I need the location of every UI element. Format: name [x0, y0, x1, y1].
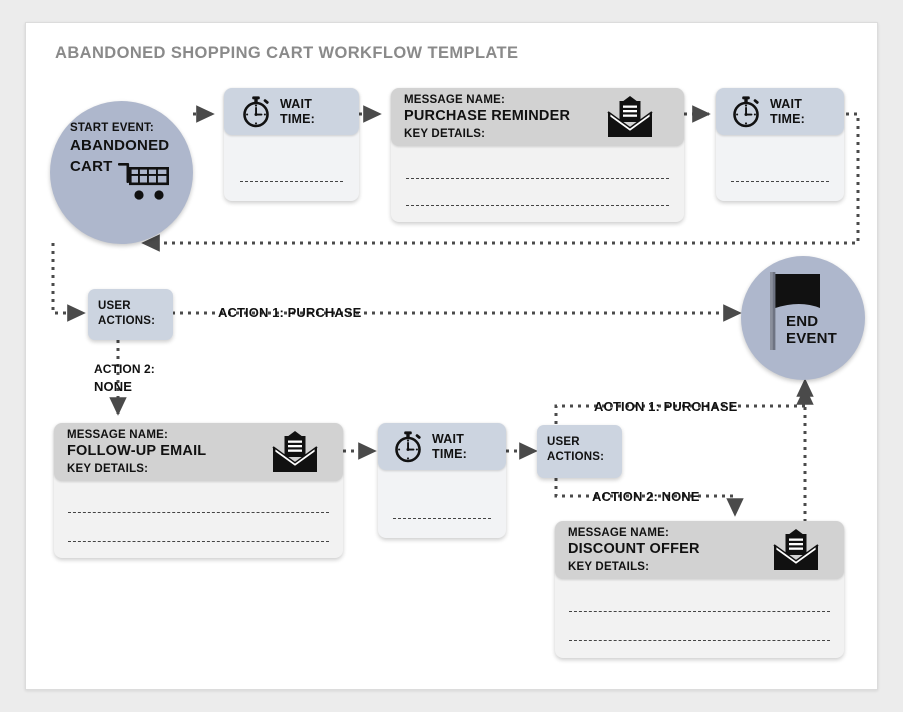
start-event-label-line1: START EVENT:: [70, 121, 154, 135]
open-envelope-icon: [272, 430, 318, 474]
open-envelope-icon: [773, 528, 819, 572]
diagram-canvas: ABANDONED SHOPPING CART WORKFLOW TEMPLAT…: [0, 0, 903, 712]
stopwatch-icon: [390, 429, 426, 465]
message-header-purchase-reminder: MESSAGE NAME: PURCHASE REMINDER KEY DETA…: [391, 88, 684, 146]
message-label-2: MESSAGE NAME:: [67, 429, 168, 441]
edge-label-action2-none-bottom: ACTION 2: NONE: [592, 489, 700, 505]
message-name-3: DISCOUNT OFFER: [568, 541, 700, 557]
end-event-label-line2: EVENT: [786, 330, 837, 348]
message-label-1: MESSAGE NAME:: [404, 94, 505, 106]
message-detail-rule-2b[interactable]: [68, 541, 328, 542]
shopping-cart-icon: [116, 158, 172, 203]
message-detail-rule-1b[interactable]: [406, 205, 670, 206]
message-name-1: PURCHASE REMINDER: [404, 108, 570, 124]
message-details-label-1: KEY DETAILS:: [404, 128, 485, 140]
wait-time-value-rule-3[interactable]: [393, 518, 490, 519]
edge-label-action1-purchase-top: ACTION 1: PURCHASE: [218, 305, 361, 321]
wait-time-box-2[interactable]: WAIT TIME:: [716, 88, 844, 201]
message-detail-rule-3b[interactable]: [569, 640, 829, 641]
user-actions-box-1[interactable]: USER ACTIONS:: [88, 289, 173, 340]
end-event-label-line1: END: [786, 313, 818, 331]
user-actions-box-2[interactable]: USER ACTIONS:: [537, 425, 622, 478]
start-event-label-line2: ABANDONED: [70, 137, 169, 155]
wait-time-box-3[interactable]: WAIT TIME:: [378, 423, 506, 538]
message-name-2: FOLLOW-UP EMAIL: [67, 443, 206, 459]
start-event-label-line3: CART: [70, 158, 112, 176]
message-header-follow-up-email: MESSAGE NAME: FOLLOW-UP EMAIL KEY DETAIL…: [54, 423, 343, 481]
connector-down-to-useractions1: [53, 243, 84, 313]
wait-time-label-1: WAIT TIME:: [280, 97, 315, 127]
message-detail-rule-2a[interactable]: [68, 512, 328, 513]
wait-time-header-3: WAIT TIME:: [378, 423, 506, 470]
edge-label-action2-line1: ACTION 2:: [94, 362, 155, 376]
edge-label-action1-purchase-bottom: ACTION 1: PURCHASE: [594, 399, 737, 415]
message-details-label-2: KEY DETAILS:: [67, 463, 148, 475]
workflow-diagram-page: ABANDONED SHOPPING CART WORKFLOW TEMPLAT…: [0, 0, 903, 712]
wait-time-header-2: WAIT TIME:: [716, 88, 844, 135]
page-title: ABANDONED SHOPPING CART WORKFLOW TEMPLAT…: [55, 44, 518, 63]
wait-time-value-rule-2[interactable]: [731, 181, 828, 182]
message-detail-rule-3a[interactable]: [569, 611, 829, 612]
message-box-discount-offer[interactable]: MESSAGE NAME: DISCOUNT OFFER KEY DETAILS…: [555, 521, 844, 658]
wait-time-value-rule-1[interactable]: [240, 181, 343, 182]
user-actions-label-1: USER ACTIONS:: [98, 299, 173, 329]
user-actions-label-2: USER ACTIONS:: [547, 435, 622, 465]
message-header-discount-offer: MESSAGE NAME: DISCOUNT OFFER KEY DETAILS…: [555, 521, 844, 579]
message-box-follow-up-email[interactable]: MESSAGE NAME: FOLLOW-UP EMAIL KEY DETAIL…: [54, 423, 343, 558]
message-detail-rule-1a[interactable]: [406, 178, 670, 179]
stopwatch-icon: [238, 94, 274, 130]
message-label-3: MESSAGE NAME:: [568, 527, 669, 539]
stopwatch-icon: [728, 94, 764, 130]
wait-time-box-1[interactable]: WAIT TIME:: [224, 88, 359, 201]
wait-time-header-1: WAIT TIME:: [224, 88, 359, 135]
message-details-label-3: KEY DETAILS:: [568, 561, 649, 573]
open-envelope-icon: [607, 95, 653, 139]
wait-time-label-2: WAIT TIME:: [770, 97, 805, 127]
message-box-purchase-reminder[interactable]: MESSAGE NAME: PURCHASE REMINDER KEY DETA…: [391, 88, 684, 222]
wait-time-label-3: WAIT TIME:: [432, 432, 467, 462]
edge-label-action2-line2: NONE: [94, 379, 132, 395]
